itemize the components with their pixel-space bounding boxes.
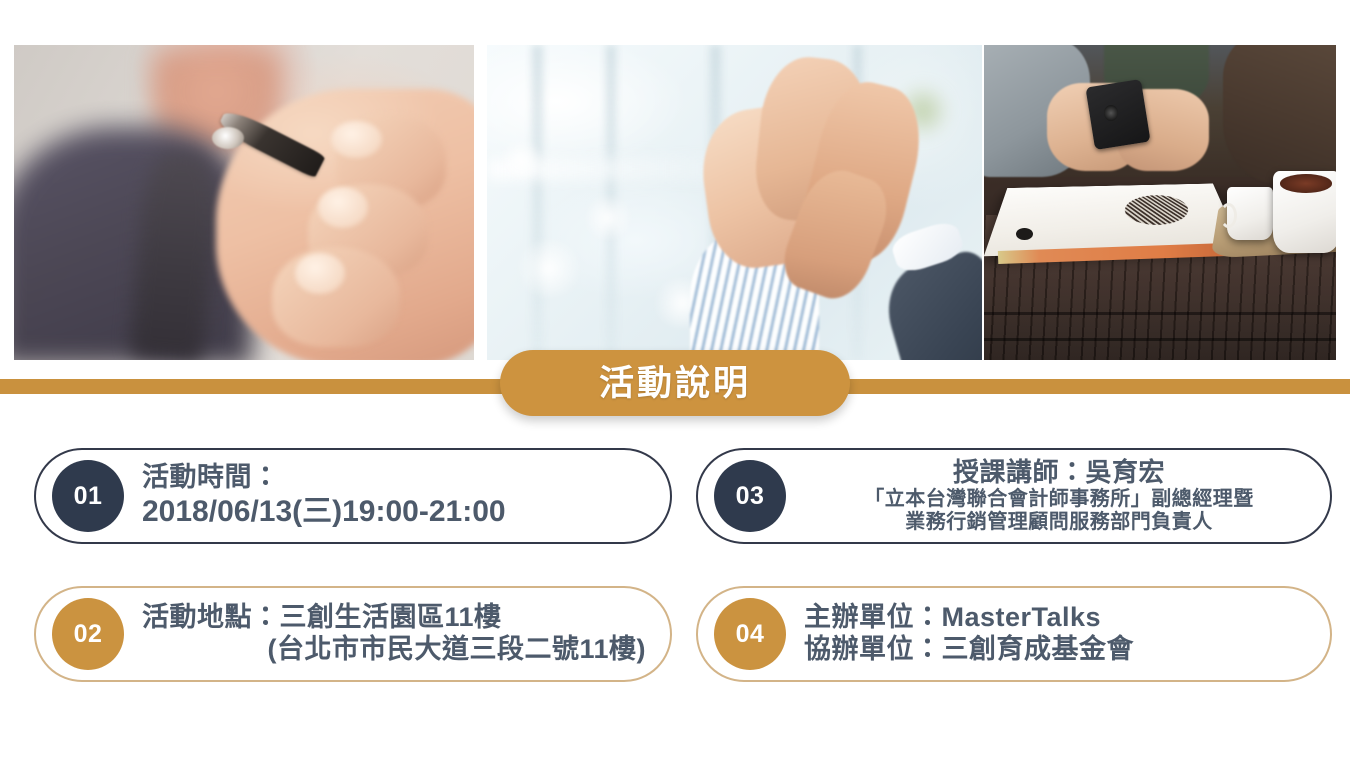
photo3-coffee-liquid [1280, 174, 1333, 193]
event-time-value: 2018/06/13(三)19:00-21:00 [142, 494, 656, 529]
photo3-plank-seam [984, 338, 1336, 341]
photo3-brown-sleeve [1223, 45, 1336, 184]
event-venue-address: (台北市市民大道三段二號11樓) [142, 634, 656, 666]
organizer-line: 主辦單位：MasterTalks [804, 602, 1316, 634]
photo2-window-mullion [532, 45, 544, 360]
photo3-plank-seam [984, 312, 1336, 315]
event-time-label: 活動時間： [142, 462, 656, 494]
card-number-badge-04: 04 [714, 598, 786, 670]
speaker-title-line2: 業務行銷管理顧問服務部門負責人 [802, 511, 1316, 535]
photo1-fingernail [295, 253, 346, 294]
info-card-04-body: 主辦單位：MasterTalks 協辦單位：三創育成基金會 [786, 602, 1330, 666]
photo-phone-magazine-coffee [984, 45, 1336, 360]
photo1-fingernail [318, 187, 369, 228]
section-title-text: 活動說明 [599, 366, 751, 401]
card-number-badge-01: 01 [52, 460, 124, 532]
speaker-title-line1: 「立本台灣聯合會計師事務所」副總經理暨 [802, 488, 1316, 512]
photo3-smartphone [1085, 79, 1150, 150]
photo3-phone-camera-lens [1104, 105, 1118, 121]
info-card-03-body: 授課講師：吳育宏 「立本台灣聯合會計師事務所」副總經理暨 業務行銷管理顧問服務部… [786, 457, 1330, 535]
section-title-pill: 活動說明 [500, 350, 850, 416]
co-organizer-line: 協辦單位：三創育成基金會 [804, 634, 1316, 666]
card-number-badge-02: 02 [52, 598, 124, 670]
info-card-01-body: 活動時間： 2018/06/13(三)19:00-21:00 [124, 462, 670, 529]
event-info-poster: 活動說明 01 活動時間： 2018/06/13(三)19:00-21:00 0… [0, 0, 1350, 759]
photo-strip [0, 45, 1350, 360]
photo2-bokeh [512, 240, 586, 297]
photo1-fingernail [331, 121, 382, 159]
card-number-badge-03: 03 [714, 460, 786, 532]
info-card-03[interactable]: 03 授課講師：吳育宏 「立本台灣聯合會計師事務所」副總經理暨 業務行銷管理顧問… [696, 448, 1332, 544]
info-card-01[interactable]: 01 活動時間： 2018/06/13(三)19:00-21:00 [34, 448, 672, 544]
photo-businessman-holding-pen [14, 45, 474, 360]
info-card-02-body: 活動地點：三創生活園區11樓 (台北市市民大道三段二號11樓) [124, 602, 670, 666]
info-card-grid: 01 活動時間： 2018/06/13(三)19:00-21:00 02 活動地… [0, 448, 1350, 708]
event-venue-label: 活動地點：三創生活園區11樓 [142, 602, 656, 634]
photo3-cup-handle [1220, 203, 1238, 228]
photo1-pen-tip [212, 127, 244, 149]
info-card-02[interactable]: 02 活動地點：三創生活園區11樓 (台北市市民大道三段二號11樓) [34, 586, 672, 682]
speaker-name: 授課講師：吳育宏 [802, 457, 1316, 488]
info-card-04[interactable]: 04 主辦單位：MasterTalks 協辦單位：三創育成基金會 [696, 586, 1332, 682]
photo-team-high-five [487, 45, 982, 360]
